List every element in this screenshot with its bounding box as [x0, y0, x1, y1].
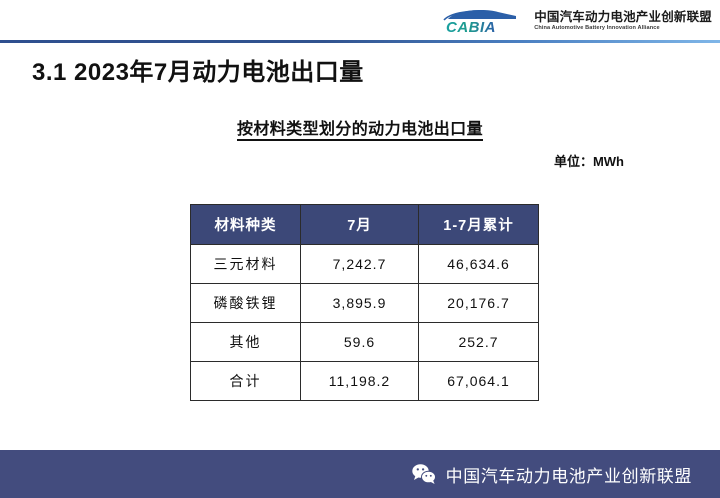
- footer-content: 中国汽车动力电池产业创新联盟: [411, 462, 692, 487]
- brand-name-cn: 中国汽车动力电池产业创新联盟: [534, 11, 712, 24]
- cell-cumulative: 20,176.7: [419, 284, 539, 323]
- column-header-cumulative: 1-7月累计: [419, 205, 539, 245]
- cell-july: 11,198.2: [301, 362, 419, 401]
- footer-bar: 中国汽车动力电池产业创新联盟: [0, 450, 720, 498]
- table-row-total: 合计 11,198.2 67,064.1: [191, 362, 539, 401]
- cell-category: 三元材料: [191, 245, 301, 284]
- column-header-material: 材料种类: [191, 205, 301, 245]
- cell-cumulative: 67,064.1: [419, 362, 539, 401]
- export-volume-table-wrapper: 材料种类 7月 1-7月累计 三元材料 7,242.7 46,634.6 磷酸铁…: [190, 204, 538, 401]
- table-row: 其他 59.6 252.7: [191, 323, 539, 362]
- footer-org-name: 中国汽车动力电池产业创新联盟: [446, 462, 692, 487]
- brand-text: 中国汽车动力电池产业创新联盟 China Automotive Battery …: [534, 11, 712, 32]
- cell-july: 3,895.9: [301, 284, 419, 323]
- cell-category: 合计: [191, 362, 301, 401]
- svg-text:CABIA: CABIA: [446, 19, 496, 35]
- cabia-logo: CABIA: [438, 7, 524, 35]
- unit-label: 单位：MWh: [554, 151, 624, 170]
- brand-header: CABIA 中国汽车动力电池产业创新联盟 China Automotive Ba…: [438, 6, 712, 36]
- brand-name-en: China Automotive Battery Innovation Alli…: [534, 26, 712, 32]
- section-subtitle: 按材料类型划分的动力电池出口量: [0, 115, 720, 139]
- wechat-icon: [411, 463, 437, 485]
- cell-category: 磷酸铁锂: [191, 284, 301, 323]
- cell-cumulative: 252.7: [419, 323, 539, 362]
- header-divider: [0, 40, 720, 43]
- table-row: 三元材料 7,242.7 46,634.6: [191, 245, 539, 284]
- table-row: 磷酸铁锂 3,895.9 20,176.7: [191, 284, 539, 323]
- page-title: 3.1 2023年7月动力电池出口量: [32, 52, 364, 87]
- slide: CABIA 中国汽车动力电池产业创新联盟 China Automotive Ba…: [0, 0, 720, 498]
- cell-july: 59.6: [301, 323, 419, 362]
- cell-cumulative: 46,634.6: [419, 245, 539, 284]
- section-subtitle-text: 按材料类型划分的动力电池出口量: [237, 121, 483, 141]
- cell-july: 7,242.7: [301, 245, 419, 284]
- cell-category: 其他: [191, 323, 301, 362]
- table-header-row: 材料种类 7月 1-7月累计: [191, 205, 539, 245]
- column-header-july: 7月: [301, 205, 419, 245]
- export-volume-table: 材料种类 7月 1-7月累计 三元材料 7,242.7 46,634.6 磷酸铁…: [190, 204, 539, 401]
